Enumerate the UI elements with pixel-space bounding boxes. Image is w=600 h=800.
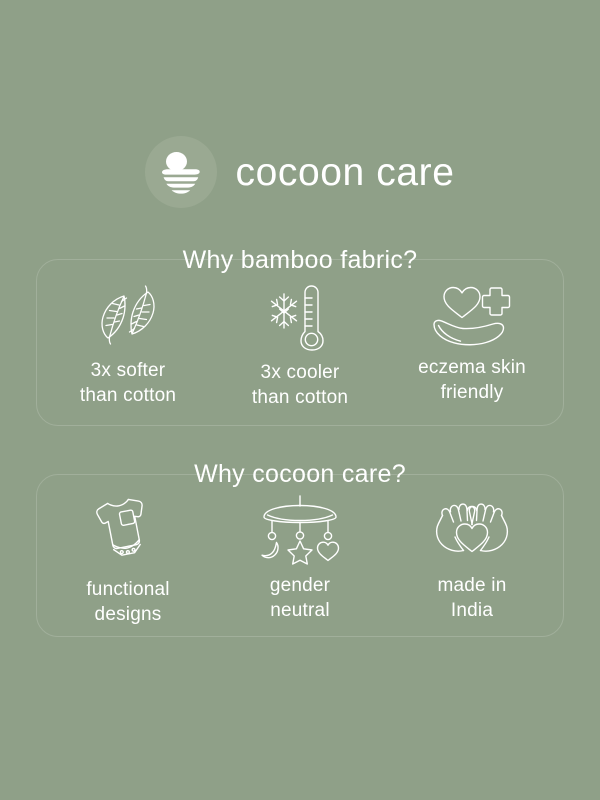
baby-onesie-icon [91, 495, 165, 563]
crib-mobile-icon [258, 495, 342, 563]
section-title-cocoon: Why cocoon care? [0, 462, 600, 487]
feature-row-bamboo: 3x softer than cotton [36, 281, 564, 410]
section-title-bamboo: Why bamboo fabric? [0, 248, 600, 273]
hands-holding-heart-icon [432, 495, 512, 563]
thermometer-snowflake-icon [267, 281, 333, 353]
brand-name: cocoon care [235, 153, 454, 192]
feature-label-cooler: 3x cooler than cotton [252, 360, 348, 410]
feature-label-neutral: gender neutral [270, 573, 330, 623]
feature-label-softer: 3x softer than cotton [80, 358, 176, 408]
product-feature-banner: cocoon care Why bamboo fabric? [0, 0, 600, 800]
feature-row-cocoon: functional designs [36, 495, 564, 627]
feature-item-softer: 3x softer than cotton [42, 281, 214, 408]
feathers-icon [90, 281, 166, 349]
feature-item-neutral: gender neutral [214, 495, 386, 623]
feature-label-india: made in India [438, 573, 507, 623]
cocoon-nest-logo-icon [145, 136, 217, 208]
feature-item-designs: functional designs [42, 495, 214, 627]
hand-heart-medical-cross-icon [429, 281, 515, 349]
feature-item-cooler: 3x cooler than cotton [214, 281, 386, 410]
feature-item-india: made in India [386, 495, 558, 623]
brand-header: cocoon care [0, 131, 600, 213]
feature-label-designs: functional designs [86, 577, 169, 627]
feature-item-eczema: eczema skin friendly [386, 281, 558, 405]
feature-label-eczema: eczema skin friendly [418, 355, 526, 405]
